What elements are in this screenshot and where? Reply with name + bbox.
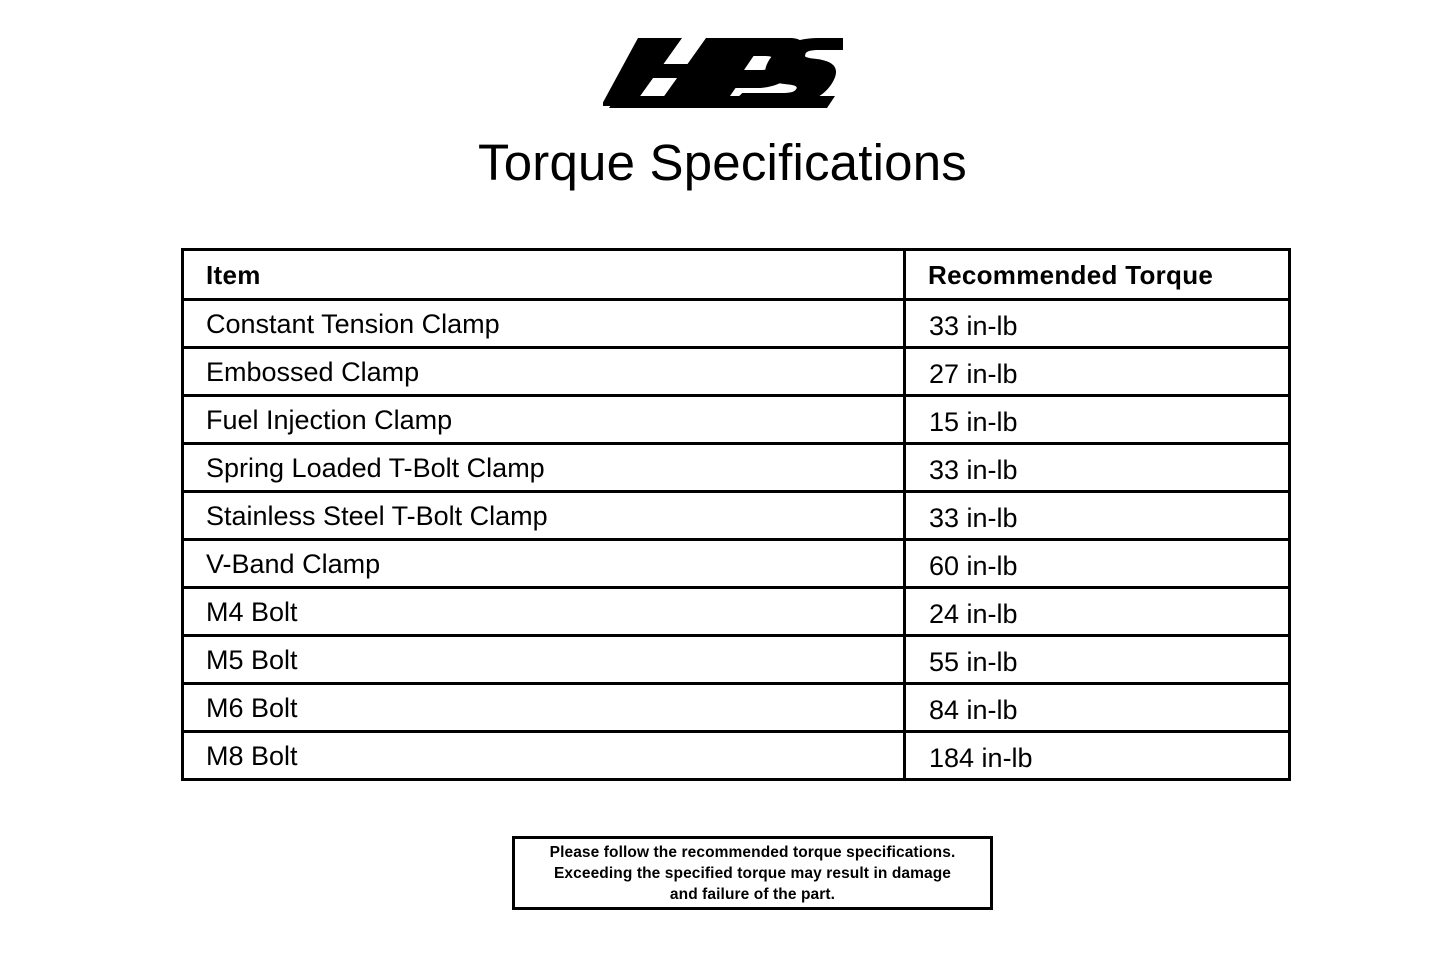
footer-note-line: Please follow the recommended torque spe… (550, 842, 956, 863)
cell-item: Spring Loaded T-Bolt Clamp (183, 444, 905, 492)
logo-block (0, 34, 1445, 112)
table-row: M6 Bolt84 in-lb (183, 684, 1290, 732)
cell-item: M5 Bolt (183, 636, 905, 684)
cell-recommended-torque: 15 in-lb (905, 396, 1290, 444)
cell-item: Constant Tension Clamp (183, 300, 905, 348)
cell-recommended-torque: 55 in-lb (905, 636, 1290, 684)
table-row: V-Band Clamp60 in-lb (183, 540, 1290, 588)
cell-recommended-torque: 84 in-lb (905, 684, 1290, 732)
torque-specifications-table: Item Recommended Torque Constant Tension… (181, 248, 1288, 781)
cell-item: M6 Bolt (183, 684, 905, 732)
cell-recommended-torque: 33 in-lb (905, 492, 1290, 540)
column-header-recommended-torque: Recommended Torque (905, 250, 1290, 300)
cell-item: Embossed Clamp (183, 348, 905, 396)
cell-recommended-torque: 60 in-lb (905, 540, 1290, 588)
cell-recommended-torque: 184 in-lb (905, 732, 1290, 780)
cell-item: M8 Bolt (183, 732, 905, 780)
hps-logo-icon (603, 34, 843, 110)
cell-recommended-torque: 33 in-lb (905, 444, 1290, 492)
cell-item: M4 Bolt (183, 588, 905, 636)
footer-note-line: and failure of the part. (670, 884, 835, 905)
cell-recommended-torque: 27 in-lb (905, 348, 1290, 396)
table-row: Spring Loaded T-Bolt Clamp33 in-lb (183, 444, 1290, 492)
table-row: Constant Tension Clamp33 in-lb (183, 300, 1290, 348)
table-row: M8 Bolt184 in-lb (183, 732, 1290, 780)
table-row: M5 Bolt55 in-lb (183, 636, 1290, 684)
cell-item: Stainless Steel T-Bolt Clamp (183, 492, 905, 540)
table-row: Stainless Steel T-Bolt Clamp33 in-lb (183, 492, 1290, 540)
cell-recommended-torque: 33 in-lb (905, 300, 1290, 348)
table-row: M4 Bolt24 in-lb (183, 588, 1290, 636)
table-row: Fuel Injection Clamp15 in-lb (183, 396, 1290, 444)
footer-note-line: Exceeding the specified torque may resul… (554, 863, 951, 884)
footer-note-box: Please follow the recommended torque spe… (512, 836, 993, 910)
cell-item: Fuel Injection Clamp (183, 396, 905, 444)
cell-recommended-torque: 24 in-lb (905, 588, 1290, 636)
table-header-row: Item Recommended Torque (183, 250, 1290, 300)
table-row: Embossed Clamp27 in-lb (183, 348, 1290, 396)
column-header-item: Item (183, 250, 905, 300)
page-title: Torque Specifications (0, 132, 1445, 194)
cell-item: V-Band Clamp (183, 540, 905, 588)
